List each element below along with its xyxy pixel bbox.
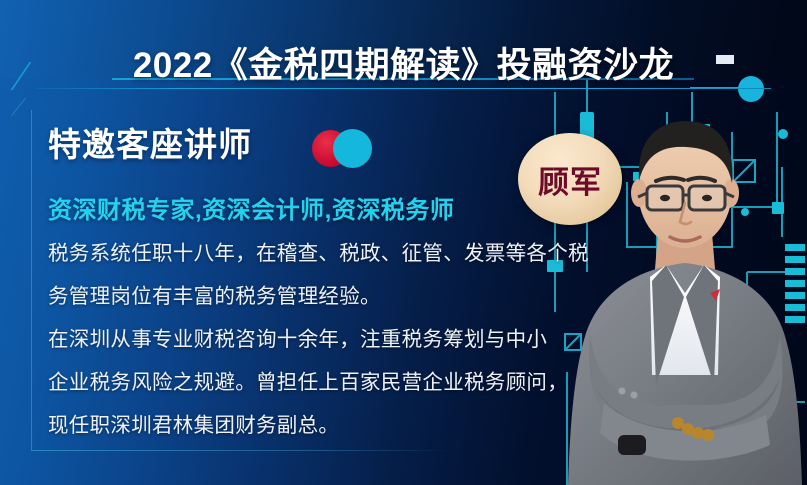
page-title: 2022《金税四期解读》投融资沙龙	[0, 37, 807, 88]
headline-label: 特邀客座讲师	[48, 118, 252, 166]
speaker-name-label: 顾军	[538, 157, 602, 202]
biography-text-block: 税务系统任职十八年，在稽查、税政、征管、发票等各个税 务管理岗位有丰富的税务管理…	[48, 232, 578, 447]
content-frame-bottom-line	[31, 450, 451, 451]
poster-canvas: 2022《金税四期解读》投融资沙龙 特邀客座讲师 资深财税专家,资深会计师,资深…	[0, 0, 807, 485]
biography-line: 企业税务风险之规避。曾担任上百家民营企业税务顾问，	[48, 361, 578, 404]
content-frame-corner-notch	[11, 98, 48, 116]
cyan-circle-decoration-icon	[333, 129, 372, 168]
speaker-name-badge: 顾军	[518, 133, 622, 225]
content-frame-vertical-line	[31, 110, 32, 450]
credentials-subtitle: 资深财税专家,资深会计师,资深税务师	[48, 190, 454, 225]
biography-line: 在深圳从事专业财税咨询十余年，注重税务筹划与中小	[48, 318, 578, 361]
biography-line: 现任职深圳君林集团财务副总。	[48, 404, 578, 447]
biography-line: 务管理岗位有丰富的税务管理经验。	[48, 275, 578, 318]
biography-line: 税务系统任职十八年，在稽查、税政、征管、发票等各个税	[48, 232, 578, 275]
headline-row: 特邀客座讲师	[48, 118, 252, 166]
